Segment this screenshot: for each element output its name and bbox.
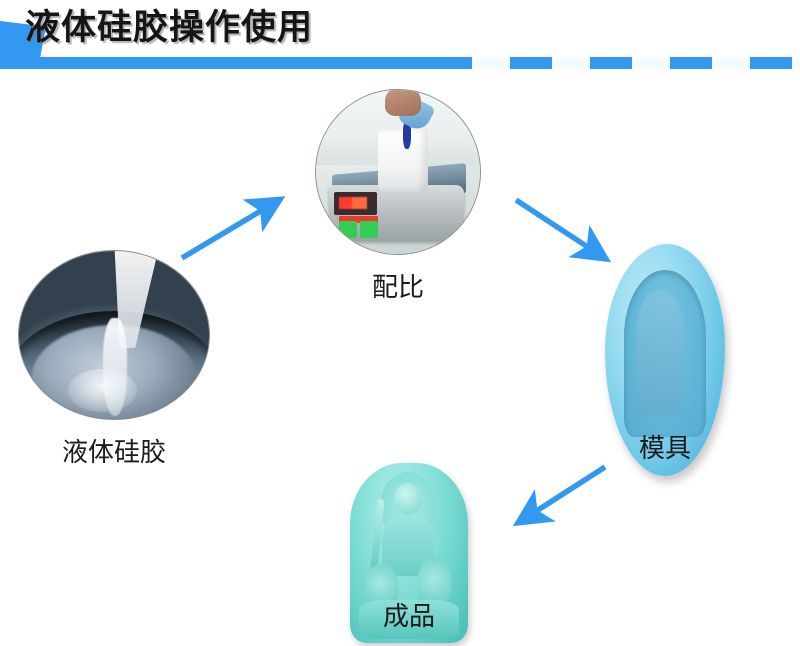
- arrow-mold-to-product: [514, 463, 610, 529]
- photo-liquid-silicone: [18, 250, 210, 420]
- node-liquid-silicone[interactable]: 液体硅胶: [8, 250, 220, 480]
- header-rule-dashed: [472, 57, 800, 69]
- scale-button-green-2: [360, 221, 378, 237]
- header-rule-solid: [0, 57, 472, 69]
- photo-ratio: [315, 89, 481, 255]
- node-label-ratio: 配比: [315, 271, 481, 303]
- arrow-ratio-to-mold: [512, 196, 608, 262]
- node-product[interactable]: 成品: [350, 463, 468, 643]
- silicone-splash: [68, 369, 136, 413]
- node-label-mold: 模具: [605, 432, 725, 464]
- mold-figure-impression: [636, 290, 684, 415]
- node-label-product: 成品: [350, 600, 468, 632]
- node-ratio[interactable]: 配比: [315, 89, 481, 315]
- process-flow-diagram: 液体硅胶 配比 模具: [0, 78, 800, 646]
- figurine-head: [394, 483, 422, 515]
- node-mold[interactable]: 模具: [605, 244, 725, 476]
- operator-hand: [385, 89, 421, 116]
- scale-button-green-1: [339, 221, 357, 237]
- page-header: 液体硅胶操作使用: [0, 0, 800, 78]
- node-label-liquid-silicone: 液体硅胶: [8, 436, 220, 468]
- photo-mold: [605, 244, 717, 424]
- photo-product: [350, 463, 456, 595]
- page-title: 液体硅胶操作使用: [25, 6, 313, 50]
- scale-display: [334, 192, 377, 215]
